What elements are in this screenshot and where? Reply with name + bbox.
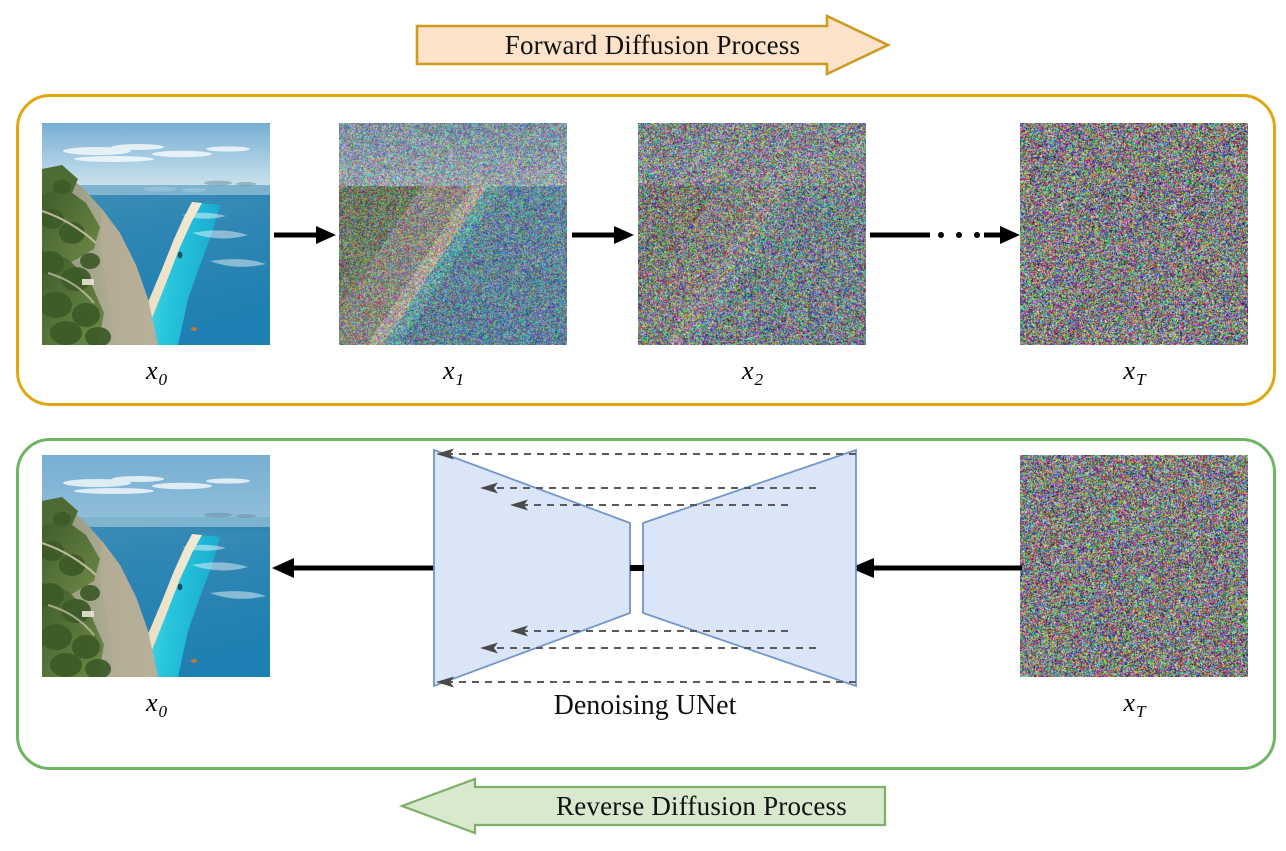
image-x0-reverse bbox=[42, 455, 270, 677]
image-x0-forward bbox=[42, 123, 270, 345]
forward-process-banner: Forward Diffusion Process bbox=[415, 14, 890, 76]
noisy-image-canvas bbox=[339, 123, 567, 345]
arrow-ellipsis-to-xT bbox=[1000, 222, 1018, 248]
image-x1-forward bbox=[339, 123, 567, 345]
arrow-x1-to-x2 bbox=[572, 222, 634, 248]
image-xT-forward bbox=[1020, 123, 1248, 345]
unet-encoder-trapezoid bbox=[434, 450, 630, 686]
pure-noise-canvas bbox=[1020, 455, 1248, 677]
image-xT-reverse bbox=[1020, 455, 1248, 677]
caption-xT-reverse: xT bbox=[1020, 690, 1248, 716]
landscape-photo bbox=[42, 123, 270, 345]
unet-decoder-trapezoid bbox=[643, 450, 856, 686]
pure-noise-canvas bbox=[1020, 123, 1248, 345]
caption-x0-forward: x0 bbox=[42, 358, 270, 384]
landscape-photo bbox=[42, 455, 270, 677]
caption-x2-forward: x2 bbox=[638, 358, 866, 384]
reverse-banner-arrow-shape bbox=[402, 779, 885, 833]
line-x2-to-ellipsis bbox=[870, 222, 930, 248]
denoising-unet-shape bbox=[430, 448, 860, 688]
diagram-canvas: Forward Diffusion Process bbox=[0, 0, 1286, 851]
arrow-x0-to-x1 bbox=[274, 222, 336, 248]
unet-label: Denoising UNet bbox=[430, 690, 860, 722]
caption-xT-forward: xT bbox=[1020, 358, 1248, 384]
caption-x0-reverse: x0 bbox=[42, 690, 270, 716]
caption-x1-forward: x1 bbox=[339, 358, 567, 384]
image-x2-forward bbox=[638, 123, 866, 345]
forward-banner-arrow-shape bbox=[417, 16, 888, 74]
noisy-image-canvas bbox=[638, 123, 866, 345]
arrow-unet-to-x0 bbox=[272, 555, 440, 581]
arrow-xT-to-unet bbox=[850, 555, 1022, 581]
ellipsis-icon bbox=[938, 232, 980, 238]
reverse-process-banner: Reverse Diffusion Process bbox=[400, 777, 887, 835]
